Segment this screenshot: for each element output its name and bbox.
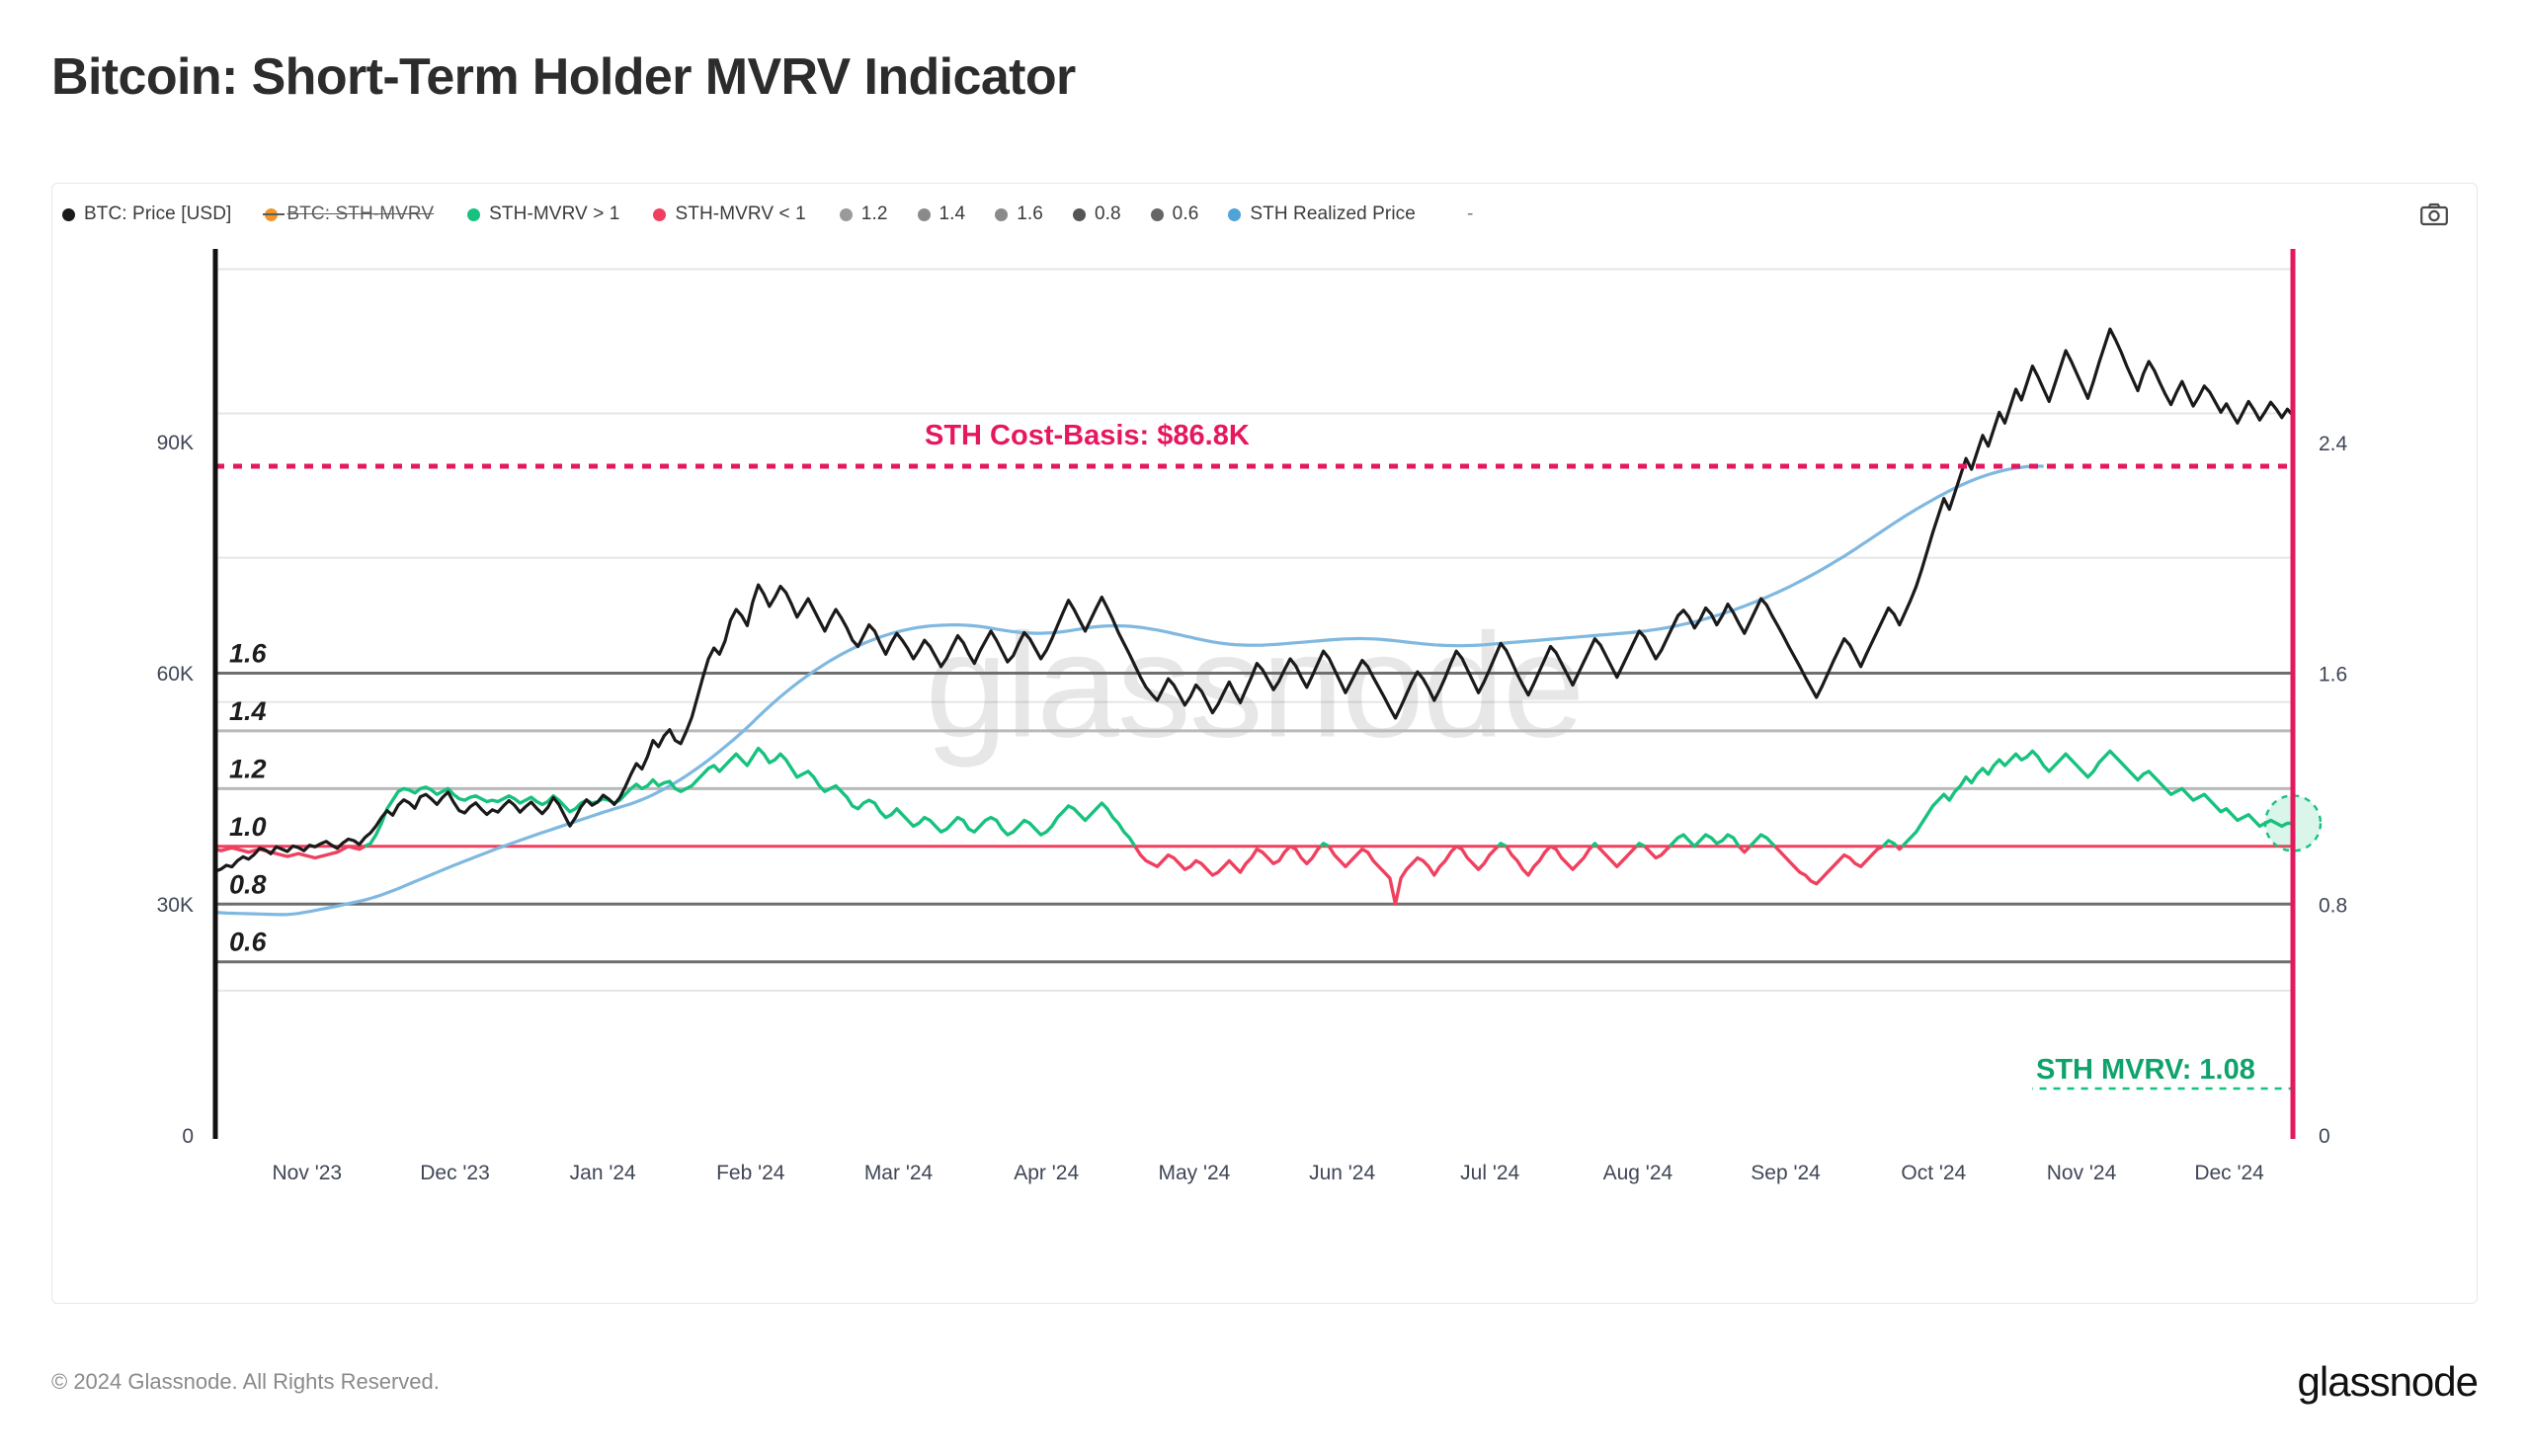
watermark-text: glassnode (926, 603, 1584, 768)
x-tick: Oct '24 (1901, 1162, 1966, 1184)
series-mvrv-below-1 (1329, 847, 1456, 905)
x-tick: Jan '24 (570, 1162, 636, 1184)
legend-item-1-6[interactable]: 1.6 (995, 203, 1043, 225)
page-root: Bitcoin: Short-Term Holder MVRV Indicato… (0, 0, 2529, 1456)
series-mvrv-above-1 (1750, 835, 1774, 847)
legend-label: 1.4 (939, 203, 966, 225)
series-mvrv-below-1 (1775, 847, 1883, 884)
legend-swatch (918, 208, 931, 221)
x-tick: Jul '24 (1460, 1162, 1519, 1184)
legend-swatch (840, 208, 853, 221)
x-tick: Sep '24 (1751, 1162, 1821, 1184)
legend-label: 0.8 (1095, 203, 1121, 225)
brand-logo: glassnode (2298, 1358, 2478, 1406)
legend-swatch (1073, 208, 1086, 221)
series-mvrv-above-1 (1498, 844, 1506, 847)
camera-icon[interactable] (2417, 198, 2451, 231)
series-mvrv-below-1 (1135, 847, 1290, 875)
sth-mvrv-annotation: STH MVRV: 1.08 (2036, 1054, 2255, 1086)
y-left-tick: 60K (157, 663, 194, 686)
legend-swatch (995, 208, 1008, 221)
series-mvrv-above-1 (1637, 844, 1645, 847)
series-mvrv-below-1 (1507, 847, 1551, 875)
y-left-tick: 30K (157, 894, 194, 917)
legend-item-btc-price-usd[interactable]: BTC: Price [USD] (62, 203, 231, 225)
axis-tick-labels: 030K60K90K00.81.62.4Nov '23Dec '23Jan '2… (157, 432, 2348, 1184)
latest-mvrv-connector (2032, 850, 2293, 1089)
band-label-1.4: 1.4 (229, 696, 267, 726)
legend-swatch (1151, 208, 1164, 221)
x-tick: Nov '24 (2047, 1162, 2117, 1184)
plot-area[interactable]: glassnode 1.61.41.21.00.80.6 030K60K90K0… (52, 241, 2479, 1305)
x-tick: Dec '23 (420, 1162, 490, 1184)
camera-icon-svg (2420, 202, 2448, 226)
legend-swatch (62, 208, 75, 221)
legend-item-sth-realized-price[interactable]: STH Realized Price (1228, 203, 1416, 225)
series-mvrv-above-1 (1903, 751, 2293, 846)
legend-label: STH-MVRV > 1 (489, 203, 619, 225)
legend-item-0-6[interactable]: 0.6 (1151, 203, 1199, 225)
legend-label: BTC: STH-MVRV (286, 203, 434, 225)
x-tick: Jun '24 (1309, 1162, 1375, 1184)
y-right-tick: 0 (2319, 1125, 2330, 1148)
legend-label: 1.2 (861, 203, 888, 225)
band-label-0.8: 0.8 (229, 869, 267, 899)
cost-basis-annotation: STH Cost-Basis: $86.8K (925, 420, 1250, 451)
legend-trailing-dash: - (1467, 203, 1473, 225)
series-mvrv-below-1 (1456, 847, 1498, 869)
watermark: glassnode (926, 603, 1584, 768)
y-right-tick: 2.4 (2319, 433, 2348, 455)
series-mvrv-below-1 (1597, 847, 1636, 867)
x-tick: May '24 (1158, 1162, 1230, 1184)
series-mvrv-below-1 (1290, 847, 1321, 864)
chart-legend: BTC: Price [USD]BTC: STH-MVRVSTH-MVRV > … (62, 198, 2358, 231)
y-right-tick: 0.8 (2319, 894, 2347, 917)
legend-item-1-2[interactable]: 1.2 (840, 203, 888, 225)
latest-value-marker (2032, 795, 2321, 1089)
series-mvrv-below-1 (1645, 847, 1670, 858)
legend-item-btc-sth-mvrv[interactable]: BTC: STH-MVRV (265, 203, 434, 225)
legend-label: 0.6 (1173, 203, 1199, 225)
y-right-tick: 1.6 (2319, 664, 2347, 687)
legend-item-0-8[interactable]: 0.8 (1073, 203, 1121, 225)
y-left-tick: 90K (157, 432, 194, 454)
legend-label: 1.6 (1017, 203, 1043, 225)
x-tick: Apr '24 (1014, 1162, 1079, 1184)
page-title: Bitcoin: Short-Term Holder MVRV Indicato… (51, 47, 1076, 107)
footer-copyright: © 2024 Glassnode. All Rights Reserved. (51, 1369, 440, 1395)
x-tick: Nov '23 (273, 1162, 343, 1184)
series-mvrv-above-1 (1321, 844, 1329, 847)
legend-swatch (467, 208, 480, 221)
legend-swatch (653, 208, 666, 221)
band-label-1.6: 1.6 (229, 639, 268, 669)
x-tick: Aug '24 (1603, 1162, 1673, 1184)
band-label-0.6: 0.6 (229, 928, 268, 957)
x-tick: Dec '24 (2194, 1162, 2264, 1184)
legend-label: STH-MVRV < 1 (675, 203, 805, 225)
legend-swatch (265, 208, 278, 221)
x-tick: Feb '24 (716, 1162, 785, 1184)
legend-item-sth-mvrv-1[interactable]: STH-MVRV > 1 (467, 203, 619, 225)
y-left-tick: 0 (182, 1125, 194, 1148)
chart-card: BTC: Price [USD]BTC: STH-MVRVSTH-MVRV > … (51, 183, 2478, 1304)
series-mvrv-above-1 (1670, 835, 1739, 847)
legend-item-sth-mvrv-1[interactable]: STH-MVRV < 1 (653, 203, 805, 225)
x-tick: Mar '24 (864, 1162, 934, 1184)
series-mvrv-below-1 (1551, 847, 1592, 869)
legend-label: BTC: Price [USD] (84, 203, 231, 225)
legend-label: STH Realized Price (1250, 203, 1416, 225)
band-label-1.0: 1.0 (229, 812, 267, 842)
chart-svg: glassnode 1.61.41.21.00.80.6 030K60K90K0… (52, 241, 2479, 1305)
band-label-1.2: 1.2 (229, 754, 267, 783)
legend-item-1-4[interactable]: 1.4 (918, 203, 966, 225)
legend-swatch (1228, 208, 1241, 221)
